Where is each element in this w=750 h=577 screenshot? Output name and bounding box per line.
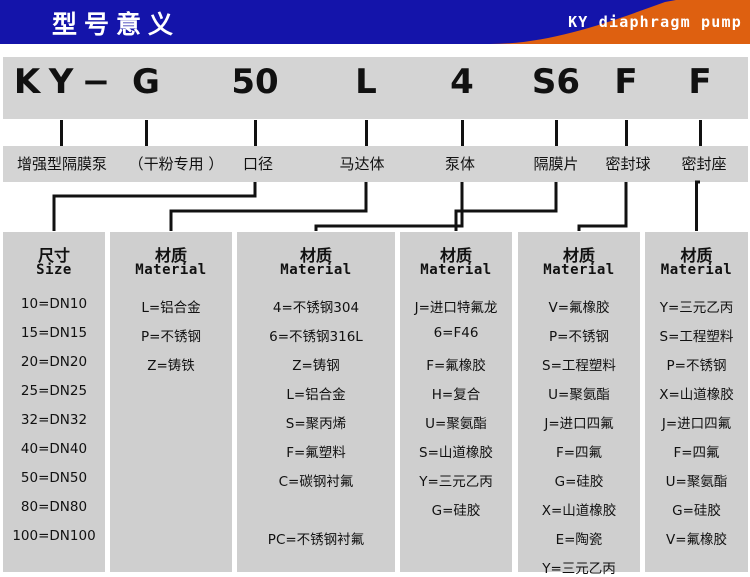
part-label: 密封座 [681,153,726,174]
column-item: X=山道橡胶 [645,383,748,403]
column-item: 6=F46 [400,325,512,341]
connector-wire [54,182,255,231]
detail-column: 材质MaterialY=三元乙丙S=工程塑料P=不锈钢X=山道橡胶J=进口四氟F… [645,232,748,572]
column-title-en: Material [237,262,395,278]
column-item: Z=铸铁 [110,354,232,374]
column-item: Y=三元乙丙 [518,557,640,577]
part-label: 马达体 [339,153,384,174]
column-item: Y=三元乙丙 [400,470,512,490]
column-item: G=硅胶 [645,499,748,519]
column-item: U=聚氨酯 [518,383,640,403]
model-code-char: F [614,62,637,102]
connector-tick [461,120,464,146]
column-title-en: Material [645,262,748,278]
column-item: F=四氟 [645,441,748,461]
column-item: G=硅胶 [400,499,512,519]
column-item: S=工程塑料 [518,354,640,374]
column-item: U=聚氨酯 [645,470,748,490]
column-item: E=陶瓷 [518,528,640,548]
column-item: V=氟橡胶 [518,296,640,316]
connector-tick [625,120,628,146]
column-item: J=进口特氟龙 [400,296,512,316]
detail-column: 材质MaterialL=铝合金P=不锈钢Z=铸铁 [110,232,232,572]
header-bar: 型号意义 KY diaphragm pump [0,0,750,44]
column-item: H=复合 [400,383,512,403]
part-label: 增强型隔膜泵 [17,153,107,174]
part-label: 隔膜片 [533,153,578,174]
column-title-en: Material [400,262,512,278]
column-title-en: Size [3,262,105,278]
page-title: 型号意义 [52,5,180,41]
column-item: 80=DN80 [3,499,105,515]
detail-column: 材质MaterialV=氟橡胶P=不锈钢S=工程塑料U=聚氨酯J=进口四氟F=四… [518,232,640,572]
connector-wire [316,182,462,231]
column-item: S=山道橡胶 [400,441,512,461]
connector-wire [697,182,701,231]
connector-tick [699,120,702,146]
header-subtitle: KY diaphragm pump [568,13,742,31]
column-item: 4=不锈钢304 [237,296,395,316]
connector-wire [579,182,626,231]
connector-tick [365,120,368,146]
part-label: 密封球 [605,153,650,174]
connector-wire [456,182,556,231]
model-code-char: 50 [231,62,278,102]
column-item: 15=DN15 [3,325,105,341]
column-item: L=铝合金 [110,296,232,316]
connector-tick [145,120,148,146]
column-item: 50=DN50 [3,470,105,486]
column-item: Z=铸钢 [237,354,395,374]
column-item: C=碳钢衬氟 [237,470,395,490]
column-item: F=四氟 [518,441,640,461]
column-item: G=硅胶 [518,470,640,490]
column-item: 6=不锈钢316L [237,325,395,345]
column-item: U=聚氨酯 [400,412,512,432]
column-item: J=进口四氟 [645,412,748,432]
column-item: 10=DN10 [3,296,105,312]
column-item: 20=DN20 [3,354,105,370]
column-item: V=氟橡胶 [645,528,748,548]
model-code-char: G [132,62,160,102]
model-code-char: − [82,62,111,102]
column-item: P=不锈钢 [645,354,748,374]
model-code-char: 4 [450,62,474,102]
connector-tick [254,120,257,146]
column-item: X=山道橡胶 [518,499,640,519]
part-label: （干粉专用 ） [129,153,224,174]
column-item: F=氟塑料 [237,441,395,461]
model-code-char: F [688,62,711,102]
part-label: 口径 [243,153,273,174]
part-label: 泵体 [445,153,475,174]
column-item: J=进口四氟 [518,412,640,432]
column-item: Y=三元乙丙 [645,296,748,316]
connector-tick [555,120,558,146]
connector-wire [171,182,366,231]
column-item: S=工程塑料 [645,325,748,345]
column-item: P=不锈钢 [110,325,232,345]
column-item: 25=DN25 [3,383,105,399]
column-item: 40=DN40 [3,441,105,457]
model-designation-diagram: 型号意义 KY diaphragm pump KY−G50L4S6FF 增强型隔… [0,0,750,576]
connector-tick [60,120,63,146]
column-title-en: Material [518,262,640,278]
column-item: F=氟橡胶 [400,354,512,374]
column-title-en: Material [110,262,232,278]
column-item: PC=不锈钢衬氟 [237,528,395,548]
detail-column: 尺寸Size10=DN1015=DN1520=DN2025=DN2532=DN3… [3,232,105,572]
column-item: 100=DN100 [3,528,105,544]
model-code-char: K [14,62,40,102]
model-code-char: Y [49,62,74,102]
column-item: 32=DN32 [3,412,105,428]
column-item: P=不锈钢 [518,325,640,345]
detail-column: 材质MaterialJ=进口特氟龙6=F46F=氟橡胶H=复合U=聚氨酯S=山道… [400,232,512,572]
model-code-char: L [355,62,377,102]
detail-column: 材质Material4=不锈钢3046=不锈钢316LZ=铸钢L=铝合金S=聚丙… [237,232,395,572]
model-code-char: S6 [532,62,580,102]
column-item: L=铝合金 [237,383,395,403]
column-item: S=聚丙烯 [237,412,395,432]
